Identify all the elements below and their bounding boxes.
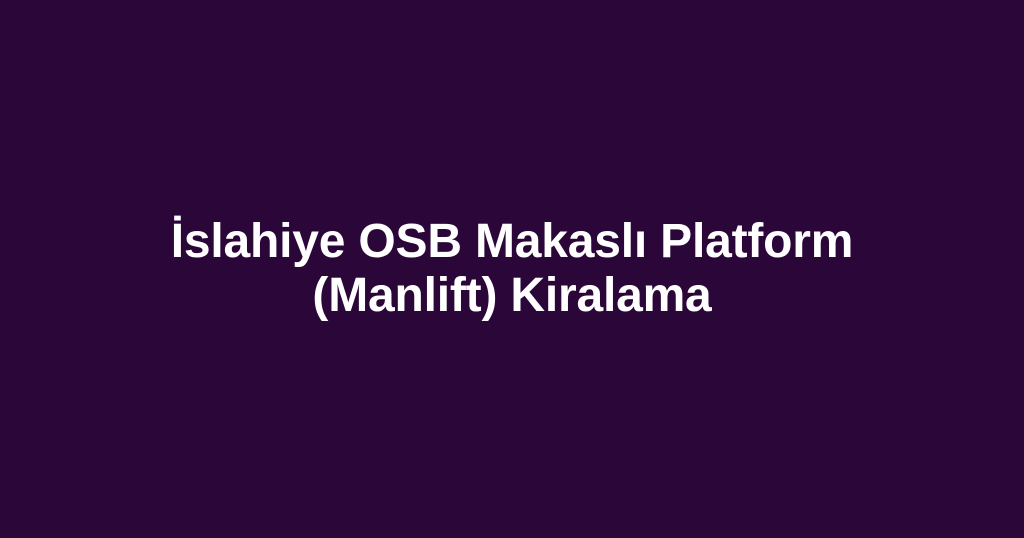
page-title-line-2: (Manlift) Kiralama <box>126 269 898 323</box>
page-title-line-1: İslahiye OSB Makaslı Platform <box>126 215 898 269</box>
social-share-card: İslahiye OSB Makaslı Platform (Manlift) … <box>0 0 1024 538</box>
headline-block: İslahiye OSB Makaslı Platform (Manlift) … <box>102 215 922 323</box>
page-title: İslahiye OSB Makaslı Platform (Manlift) … <box>126 215 898 323</box>
